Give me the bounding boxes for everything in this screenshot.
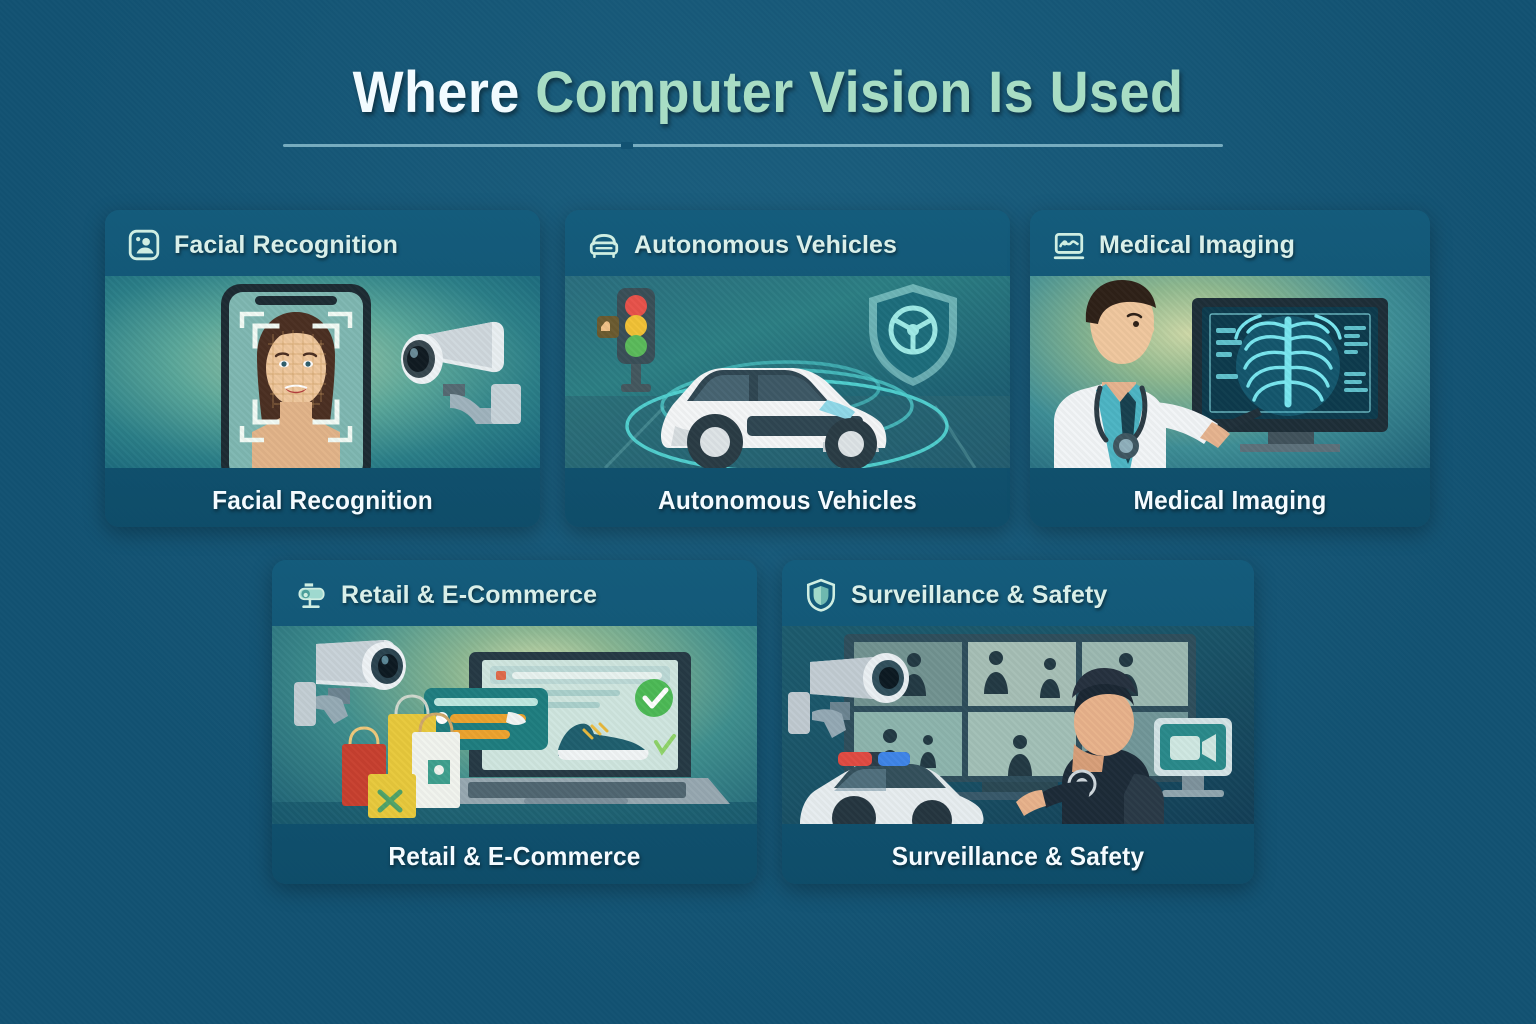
- card-header-label: Medical Imaging: [1099, 231, 1295, 260]
- page-title: Where Computer Vision Is Used: [0, 64, 1536, 122]
- monitor-waveform-icon: [1052, 228, 1086, 262]
- card-header-label: Retail & E-Commerce: [341, 581, 597, 610]
- security-camera-icon: [294, 578, 328, 612]
- card-caption: Medical Imaging: [1042, 468, 1418, 516]
- card-caption: Surveillance & Safety: [796, 824, 1240, 872]
- card-header: Facial Recognition: [105, 210, 540, 276]
- page-title-part-one: Where: [353, 60, 536, 125]
- card-medical-imaging[interactable]: Medical Imaging: [1030, 210, 1430, 527]
- card-artwork-retail-ecommerce: [272, 626, 757, 824]
- card-artwork-autonomous-vehicles: [565, 276, 1010, 468]
- card-header-label: Facial Recognition: [174, 231, 398, 260]
- card-caption: Retail & E-Commerce: [287, 824, 743, 872]
- title-underline: [283, 144, 1223, 147]
- card-surveillance-safety[interactable]: Surveillance & Safety: [782, 560, 1254, 884]
- card-artwork-surveillance-safety: [782, 626, 1254, 824]
- shield-icon: [804, 578, 838, 612]
- card-autonomous-vehicles[interactable]: Autonomous Vehicles: [565, 210, 1010, 527]
- card-artwork-facial-recognition: [105, 276, 540, 468]
- card-header: Retail & E-Commerce: [272, 560, 757, 626]
- car-front-icon: [587, 228, 621, 262]
- card-retail-ecommerce[interactable]: Retail & E-Commerce: [272, 560, 757, 884]
- card-header-label: Autonomous Vehicles: [634, 231, 897, 260]
- card-caption: Facial Recognition: [118, 468, 527, 516]
- card-header: Medical Imaging: [1030, 210, 1430, 276]
- card-artwork-medical-imaging: [1030, 276, 1430, 468]
- page-title-part-two: Computer Vision Is Used: [535, 60, 1183, 125]
- card-header: Surveillance & Safety: [782, 560, 1254, 626]
- card-header-label: Surveillance & Safety: [851, 581, 1107, 610]
- photo-portrait-icon: [127, 228, 161, 262]
- card-caption: Autonomous Vehicles: [578, 468, 996, 516]
- card-facial-recognition[interactable]: Facial Recognition: [105, 210, 540, 527]
- card-header: Autonomous Vehicles: [565, 210, 1010, 276]
